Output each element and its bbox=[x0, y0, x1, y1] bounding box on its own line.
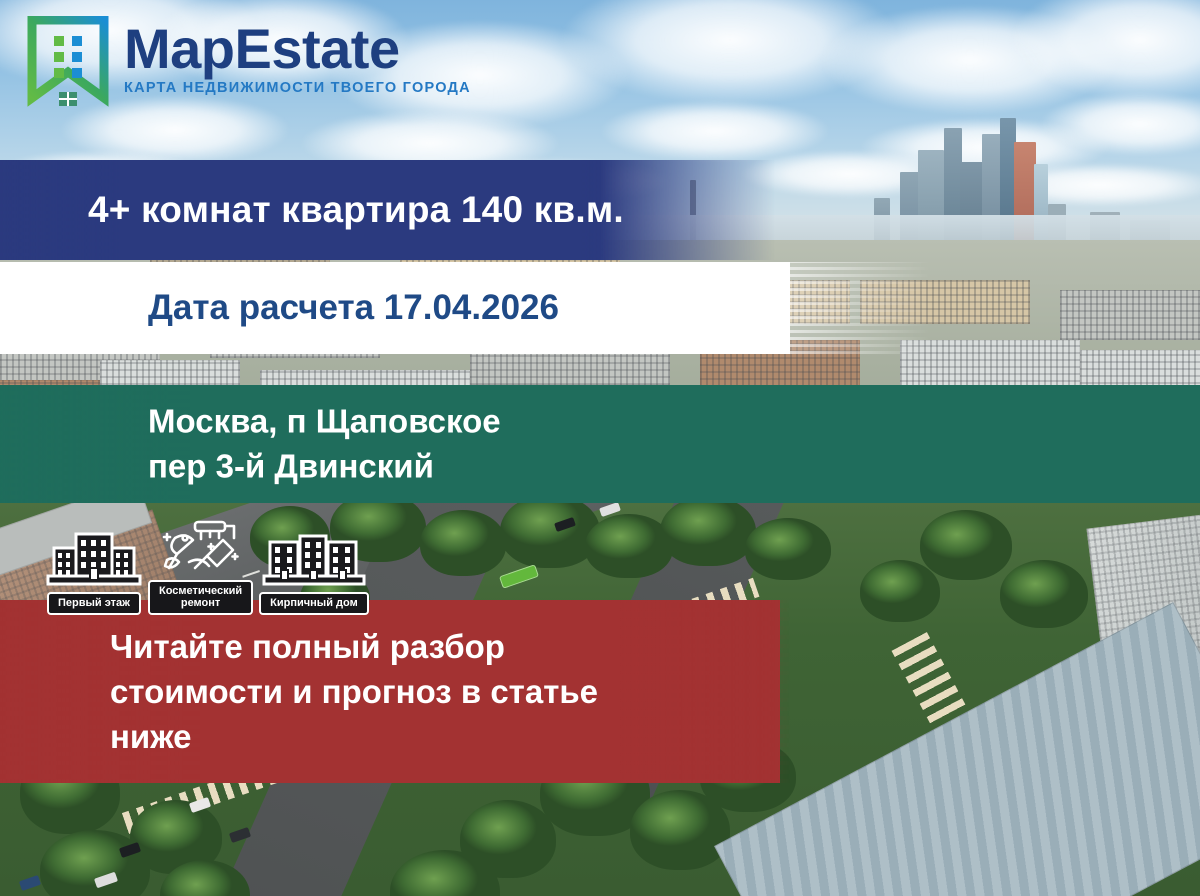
address-banner: Москва, п Щаповское пер 3-й Двинский bbox=[0, 385, 1200, 503]
brick-houses-icon bbox=[262, 532, 366, 590]
address-line-2: пер 3-й Двинский bbox=[148, 444, 501, 489]
banner-right-smear bbox=[730, 262, 930, 354]
apartment-building-icon bbox=[46, 532, 142, 590]
call-to-action-text: Читайте полный разбор стоимости и прогно… bbox=[110, 624, 598, 760]
address-text: Москва, п Щаповское пер 3-й Двинский bbox=[148, 399, 501, 488]
cta-line-2: стоимости и прогноз в статье bbox=[110, 669, 598, 714]
badge-label: Косметический ремонт bbox=[148, 580, 253, 615]
cta-line-1: Читайте полный разбор bbox=[110, 624, 598, 669]
logo-tagline: КАРТА НЕДВИЖИМОСТИ ТВОЕГО ГОРОДА bbox=[124, 80, 471, 96]
brand-logo[interactable]: MapEstate КАРТА НЕДВИЖИМОСТИ ТВОЕГО ГОРО… bbox=[26, 16, 471, 108]
badge-label: Кирпичный дом bbox=[259, 592, 369, 614]
real-estate-promo-poster: MapEstate КАРТА НЕДВИЖИМОСТИ ТВОЕГО ГОРО… bbox=[0, 0, 1200, 896]
paint-tools-icon bbox=[151, 520, 251, 578]
banner-right-smear bbox=[620, 600, 790, 783]
badge-cosmetic-renovation[interactable]: Косметический ремонт bbox=[148, 520, 253, 615]
calculation-date-text: Дата расчета 17.04.2026 bbox=[148, 288, 559, 328]
bookmark-building-icon bbox=[26, 16, 110, 108]
feature-badges: Первый этаж bbox=[46, 520, 369, 615]
cta-line-3: ниже bbox=[110, 714, 598, 759]
property-summary-text: 4+ комнат квартира 140 кв.м. bbox=[88, 189, 624, 231]
calculation-date-banner: Дата расчета 17.04.2026 bbox=[0, 262, 790, 354]
badge-brick-house[interactable]: Кирпичный дом bbox=[259, 532, 369, 614]
logo-title: MapEstate bbox=[124, 22, 471, 76]
badge-first-floor[interactable]: Первый этаж bbox=[46, 532, 142, 614]
call-to-action-banner: Читайте полный разбор стоимости и прогно… bbox=[0, 600, 780, 783]
logo-wordmark: MapEstate КАРТА НЕДВИЖИМОСТИ ТВОЕГО ГОРО… bbox=[124, 16, 471, 96]
badge-label: Первый этаж bbox=[47, 592, 141, 614]
property-summary-banner: 4+ комнат квартира 140 кв.м. bbox=[0, 160, 775, 260]
address-line-1: Москва, п Щаповское bbox=[148, 399, 501, 444]
